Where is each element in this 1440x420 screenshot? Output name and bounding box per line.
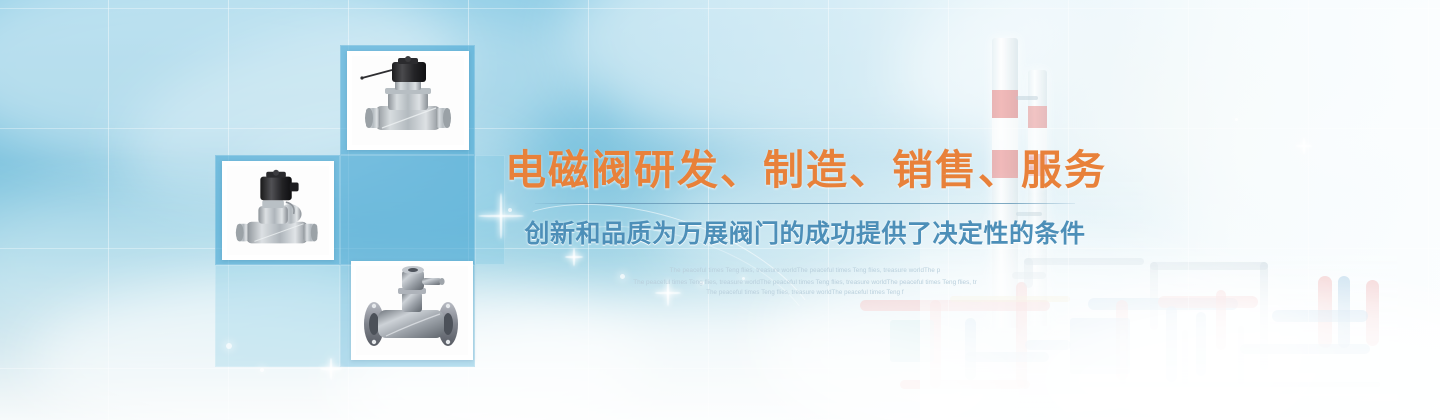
banner-subheadline: 创新和品质为万展阀门的成功提供了决定性的条件 xyxy=(505,214,1105,250)
banner-copy-block: 电磁阀研发、制造、销售、服务 创新和品质为万展阀门的成功提供了决定性的条件 Th… xyxy=(505,148,1105,298)
blurb-line-3: The peaceful times Teng flies, treasure … xyxy=(590,288,1020,298)
product-card-1[interactable] xyxy=(347,51,469,150)
banner-headline: 电磁阀研发、制造、销售、服务 xyxy=(505,148,1105,194)
banner-blurb-paragraph: The peaceful times Teng flies, treasure … xyxy=(590,266,1020,298)
hero-banner: 电磁阀研发、制造、销售、服务 创新和品质为万展阀门的成功提供了决定性的条件 Th… xyxy=(0,0,1440,420)
product-image-solenoid-valve-threaded-top xyxy=(352,56,464,145)
product-card-2[interactable] xyxy=(222,161,334,260)
headline-divider xyxy=(535,203,1075,204)
product-card-3[interactable] xyxy=(351,261,473,360)
product-image-solenoid-valve-threaded-mid xyxy=(227,166,329,255)
product-image-solenoid-valve-flanged xyxy=(356,266,468,355)
blurb-line-1: The peaceful times Teng flies, treasure … xyxy=(590,266,1020,277)
blurb-line-2: The peaceful times Teng flies, treasure … xyxy=(590,277,1020,288)
